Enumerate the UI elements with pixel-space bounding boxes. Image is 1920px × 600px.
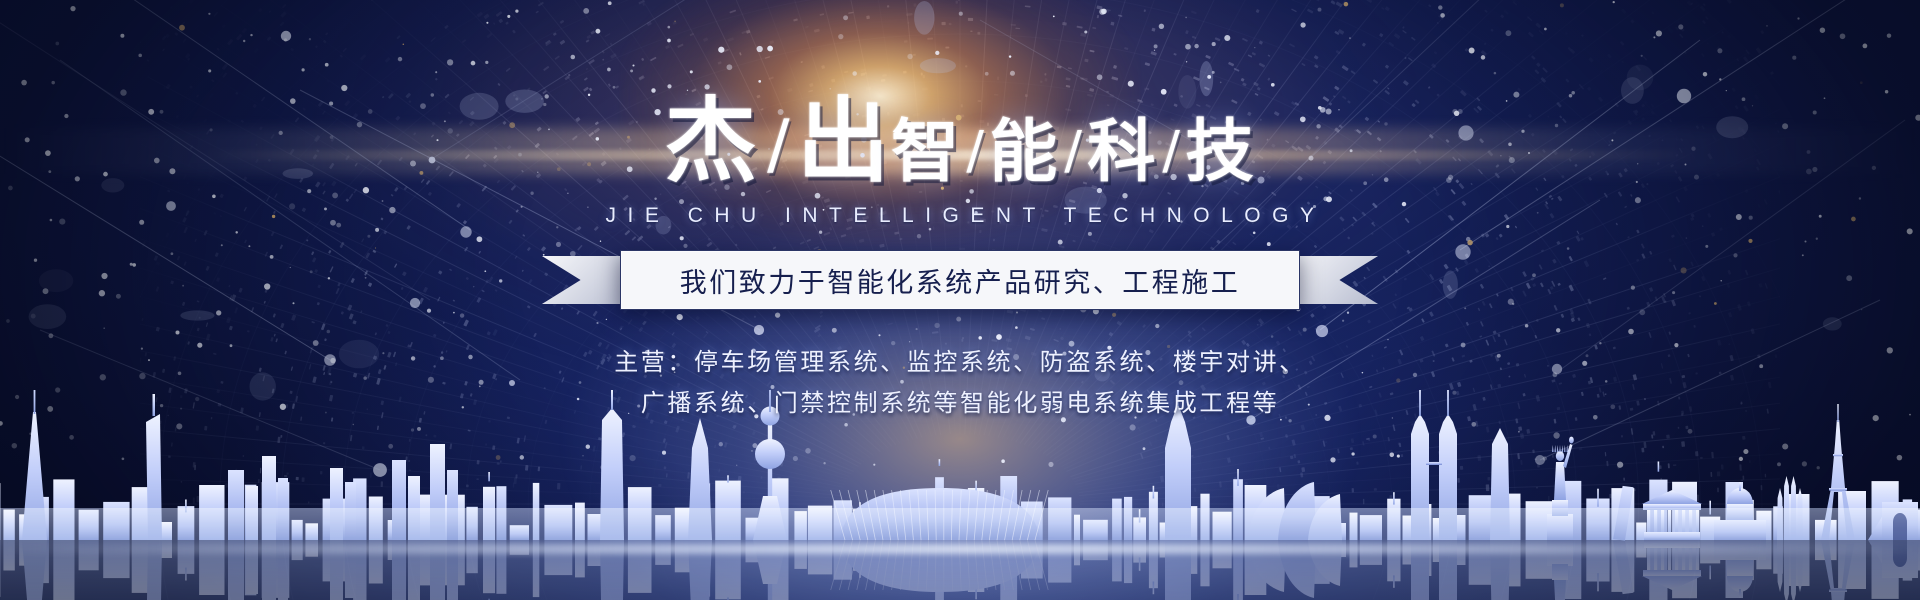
services-line-2: 广播系统、门禁控制系统等智能化弱电系统集成工程等: [0, 383, 1920, 424]
title-slash-2: /: [966, 124, 984, 182]
title-slash-4: /: [1162, 124, 1180, 182]
title-char-jie: 杰: [664, 96, 758, 188]
title-char-neng: 能: [989, 118, 1059, 186]
english-title: JIE CHU INTELLIGENT TECHNOLOGY: [0, 204, 1920, 228]
title-char-chu: 出: [797, 96, 891, 188]
ribbon-panel: 我们致力于智能化系统产品研究、工程施工: [620, 250, 1300, 310]
title-slash-3: /: [1064, 124, 1082, 182]
banner-content: 杰 / 出 智 / 能 / 科 / 技 JIE CHU INTELLIGENT …: [0, 0, 1920, 425]
hero-banner: 杰 / 出 智 / 能 / 科 / 技 JIE CHU INTELLIGENT …: [0, 0, 1920, 600]
title-char-ji: 技: [1186, 118, 1256, 186]
services-line-1: 主营：停车场管理系统、监控系统、防盗系统、楼宇对讲、: [0, 342, 1920, 383]
tagline-ribbon: 我们致力于智能化系统产品研究、工程施工: [542, 250, 1378, 310]
title-char-zhi: 智: [891, 118, 961, 186]
title-slash-1: /: [766, 110, 789, 184]
brand-title: 杰 / 出 智 / 能 / 科 / 技: [0, 96, 1920, 188]
ribbon-text: 我们致力于智能化系统产品研究、工程施工: [680, 261, 1241, 300]
title-char-ke: 科: [1087, 118, 1157, 186]
services-description: 主营：停车场管理系统、监控系统、防盗系统、楼宇对讲、 广播系统、门禁控制系统等智…: [0, 342, 1920, 425]
